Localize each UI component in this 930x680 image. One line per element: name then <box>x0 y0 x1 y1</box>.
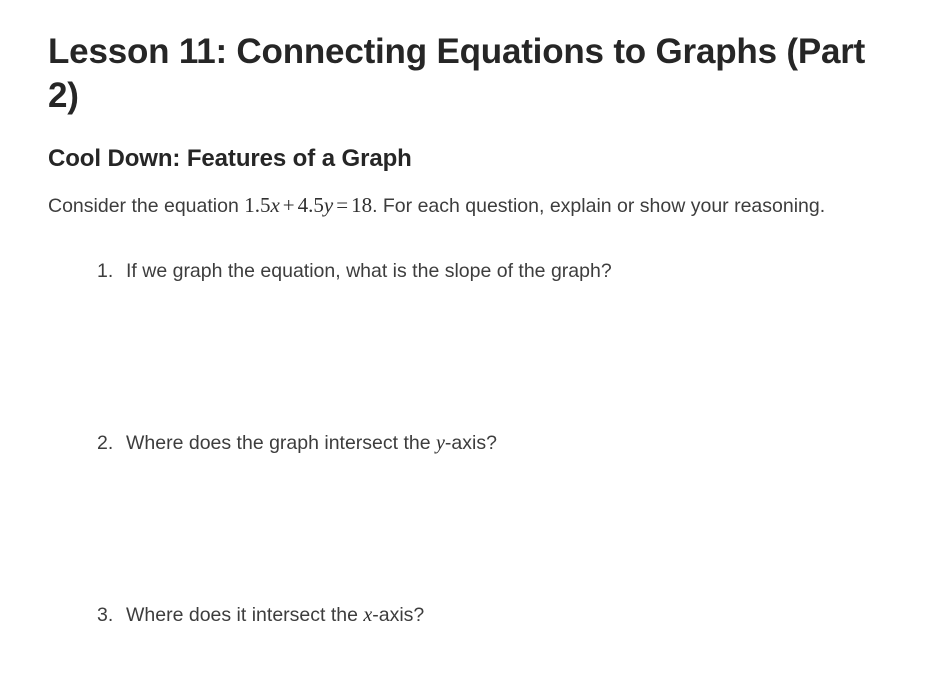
question-list: 1.If we graph the equation, what is the … <box>48 221 882 629</box>
question-variable: x <box>363 604 372 626</box>
question-text-after: -axis? <box>372 604 424 626</box>
question-text-before: If we graph the equation, what is the sl… <box>126 260 612 282</box>
question-number: 3. <box>97 601 113 629</box>
list-item: 1.If we graph the equation, what is the … <box>97 257 882 429</box>
section-heading: Cool Down: Features of a Graph <box>48 118 882 174</box>
question-text-before: Where does the graph intersect the <box>126 432 436 454</box>
equation-coefficient-y: 4.5 <box>298 193 324 217</box>
equation-variable-y: y <box>324 193 333 217</box>
worksheet-page: Lesson 11: Connecting Equations to Graph… <box>0 0 930 680</box>
equation-variable-x: x <box>270 193 279 217</box>
intro-text-before: Consider the equation <box>48 195 244 217</box>
intro-paragraph: Consider the equation 1.5x+4.5y=18. For … <box>48 174 863 221</box>
equation-equals-sign: = <box>333 193 351 217</box>
question-number: 2. <box>97 429 113 457</box>
equation-coefficient-x: 1.5 <box>244 193 270 217</box>
inline-equation: 1.5x+4.5y=18 <box>244 193 372 217</box>
question-text-after: -axis? <box>445 432 497 454</box>
list-item: 2.Where does the graph intersect the y-a… <box>97 429 882 601</box>
list-item: 3.Where does it intersect the x-axis? <box>97 601 882 629</box>
intro-text-after: . For each question, explain or show you… <box>372 195 825 217</box>
question-variable: y <box>436 432 445 454</box>
question-number: 1. <box>97 257 113 285</box>
page-title: Lesson 11: Connecting Equations to Graph… <box>48 0 882 118</box>
equation-operator: + <box>280 193 298 217</box>
question-text-before: Where does it intersect the <box>126 604 363 626</box>
equation-constant: 18 <box>351 193 372 217</box>
